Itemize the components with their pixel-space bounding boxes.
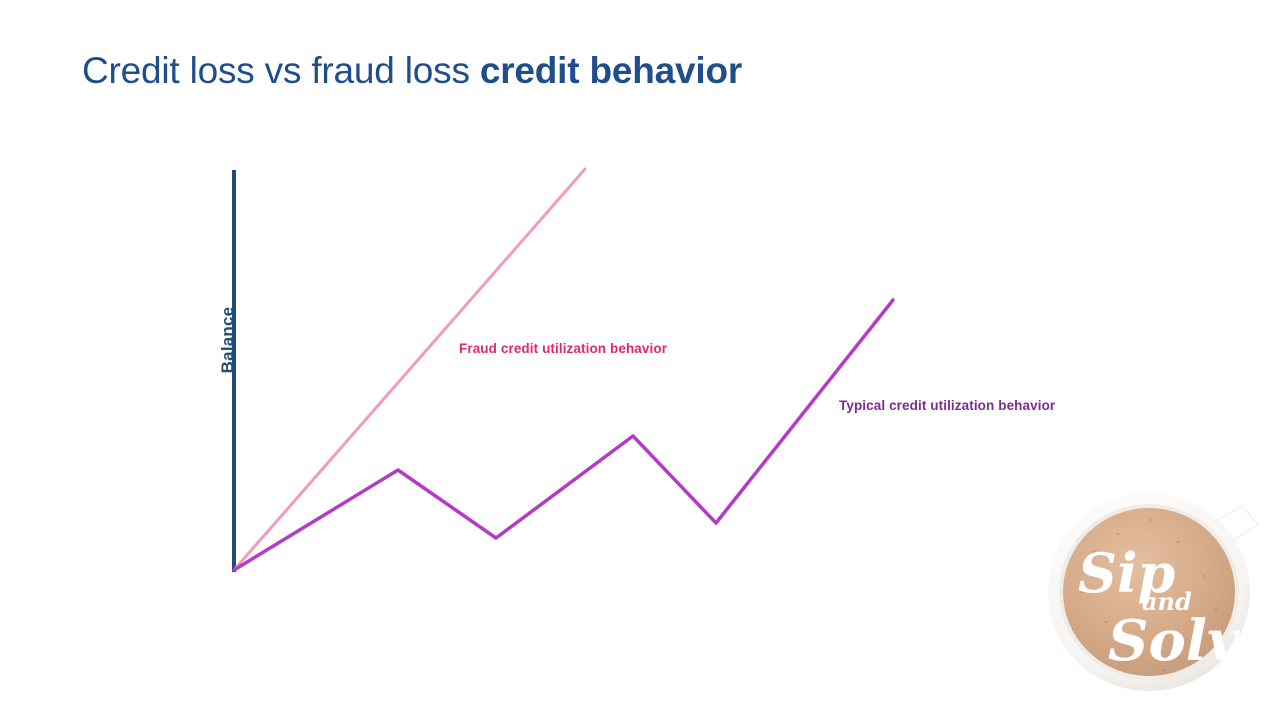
series-label-fraud: Fraud credit utilization behavior: [459, 341, 667, 356]
series-label-typical: Typical credit utilization behavior: [839, 398, 1055, 413]
coffee-cup-icon: Sip and Solve: [1046, 480, 1276, 695]
logo-text-solve: Solve: [1108, 608, 1275, 674]
sip-and-solve-logo: Sip and Solve: [1046, 480, 1276, 695]
y-axis-title: Balance: [218, 280, 238, 400]
slide-canvas: Credit loss vs fraud loss credit behavio…: [0, 0, 1280, 720]
